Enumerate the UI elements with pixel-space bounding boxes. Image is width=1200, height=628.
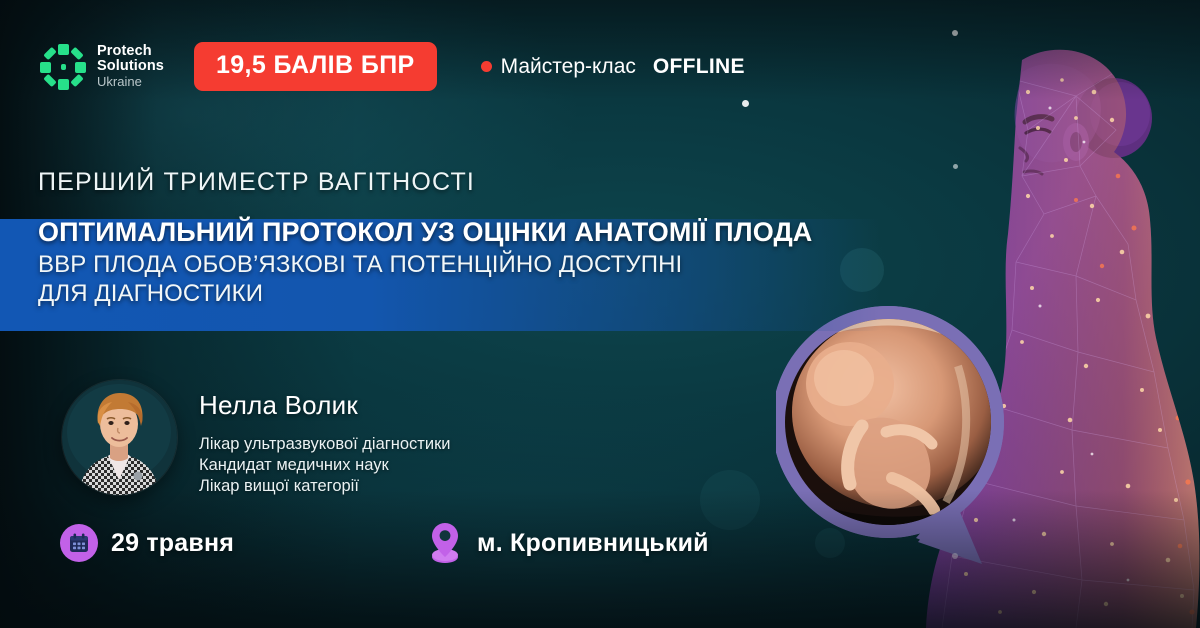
bokeh-dot: [952, 30, 958, 36]
event-format-label: Майстер-клас: [501, 55, 636, 79]
event-date: 29 травня: [60, 524, 234, 562]
page-title: ОПТИМАЛЬНИЙ ПРОТОКОЛ УЗ ОЦІНКИ АНАТОМІЇ …: [38, 217, 858, 247]
ultrasound-bubble-icon: [776, 306, 1004, 564]
brand-line-2: Solutions: [97, 59, 164, 74]
speaker-portrait: [62, 380, 177, 495]
bokeh-dot: [742, 100, 749, 107]
map-pin-icon: [426, 521, 464, 565]
title-block: ПЕРШИЙ ТРИМЕСТР ВАГІТНОСТІ ОПТИМАЛЬНИЙ П…: [38, 168, 858, 309]
event-meta-row: 29 травня м. Кропивницький: [60, 521, 709, 565]
bokeh-dot: [700, 470, 760, 530]
calendar-icon: [60, 524, 98, 562]
bokeh-dot: [952, 553, 958, 559]
bokeh-dot: [815, 528, 845, 558]
bokeh-dot: [953, 164, 958, 169]
protech-radial-logo-icon: [40, 44, 86, 90]
credential-line: Кандидат медичних наук: [199, 455, 451, 476]
event-date-label: 29 травня: [111, 529, 234, 558]
event-format: Майстер-клас OFFLINE: [481, 55, 745, 79]
speaker-block: Нелла Волик Лікар ультразвукової діагнос…: [62, 380, 451, 497]
title-eyebrow: ПЕРШИЙ ТРИМЕСТР ВАГІТНОСТІ: [38, 168, 858, 197]
banner-header: Protech Solutions Ukraine 19,5 БАЛІВ БПР…: [40, 42, 745, 91]
brand-line-1: Protech: [97, 44, 164, 59]
event-mode-label: OFFLINE: [653, 55, 745, 79]
brand-logo: Protech Solutions Ukraine: [40, 44, 164, 90]
speaker-credentials: Лікар ультразвукової діагностики Кандида…: [199, 434, 451, 497]
brand-logo-text: Protech Solutions Ukraine: [97, 44, 164, 89]
points-badge: 19,5 БАЛІВ БПР: [194, 42, 437, 91]
credential-line: Лікар вищої категорії: [199, 476, 451, 497]
event-location-label: м. Кропивницький: [477, 529, 709, 558]
credential-line: Лікар ультразвукової діагностики: [199, 434, 451, 455]
page-subtitle: ВВР ПЛОДА ОБОВ’ЯЗКОВІ ТА ПОТЕНЦІЙНО ДОСТ…: [38, 251, 738, 309]
event-location: м. Кропивницький: [426, 521, 709, 565]
speaker-info: Нелла Волик Лікар ультразвукової діагнос…: [199, 380, 451, 497]
red-dot-icon: [481, 61, 492, 72]
promo-banner: Protech Solutions Ukraine 19,5 БАЛІВ БПР…: [0, 0, 1200, 628]
speaker-name: Нелла Волик: [199, 390, 451, 421]
brand-line-3: Ukraine: [97, 75, 164, 89]
